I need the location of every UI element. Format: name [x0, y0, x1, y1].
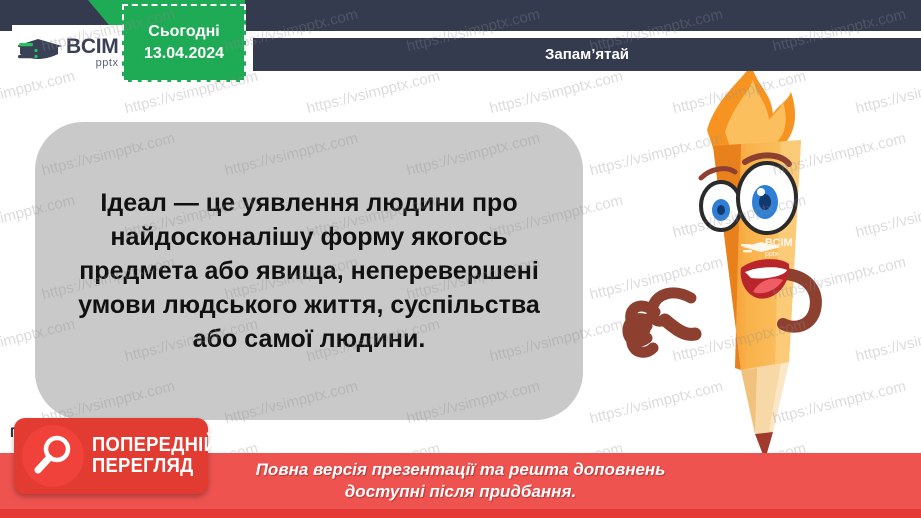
- svg-text:pptx: pptx: [765, 251, 779, 258]
- svg-text:ВСІМ: ВСІМ: [765, 237, 793, 249]
- banner-base-strip: [0, 509, 921, 518]
- slide-root: BCIM pptx Сьогодні 13.04.2024 Запам’ятай: [0, 0, 921, 518]
- purchase-notice-line-1: Повна версія презентації та решта доповн…: [256, 459, 666, 481]
- date-badge-value: 13.04.2024: [144, 43, 224, 65]
- preview-badge[interactable]: ПОПЕРЕДНІЙ ПЕРЕГЛЯД: [14, 418, 208, 494]
- logo-subtitle: pptx: [66, 58, 118, 69]
- graduation-cap-icon: [18, 35, 64, 69]
- preview-badge-line-1: ПОПЕРЕДНІЙ: [92, 435, 217, 456]
- pencil-character-illustration: ВСІМ pptx: [595, 62, 895, 462]
- watermark-text: https://vsimpptx.com: [305, 68, 442, 118]
- section-title-bar: Запам’ятай: [253, 38, 921, 71]
- date-badge-label: Сьогодні: [148, 21, 219, 43]
- preview-badge-line-2: ПЕРЕГЛЯД: [92, 456, 217, 477]
- logo-title: BCIM: [66, 35, 118, 58]
- preview-badge-labels: ПОПЕРЕДНІЙ ПЕРЕГЛЯД: [92, 435, 228, 477]
- purchase-notice-line-2: доступні після придбання.: [345, 481, 576, 503]
- logo-wordmark: BCIM pptx: [66, 36, 118, 69]
- section-title-text: Запам’ятай: [545, 46, 629, 63]
- content-text: Ідеал — це уявлення людини про найдоскон…: [57, 186, 561, 356]
- brand-logo[interactable]: BCIM pptx: [12, 25, 135, 79]
- content-card: Ідеал — це уявлення людини про найдоскон…: [35, 122, 583, 420]
- magnifier-icon: [22, 425, 84, 487]
- today-date-badge: Сьогодні 13.04.2024: [122, 4, 246, 82]
